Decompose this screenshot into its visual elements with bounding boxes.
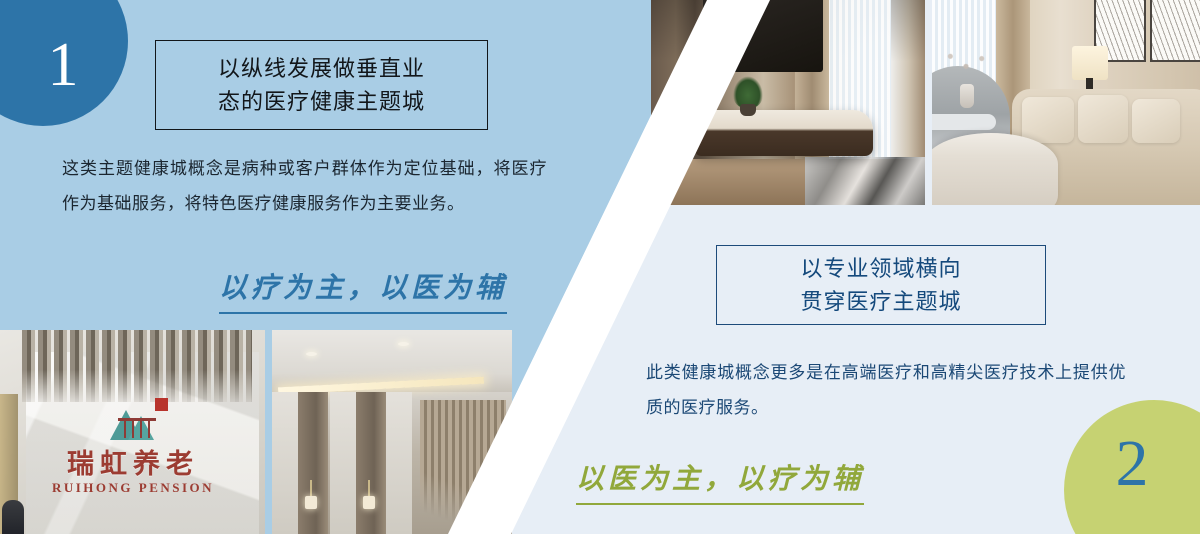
marble-column xyxy=(330,392,356,534)
ceiling-slats xyxy=(22,330,252,402)
wall-panel xyxy=(298,392,328,534)
pendant-lamp xyxy=(362,480,376,510)
wall-art-frame xyxy=(1150,0,1200,62)
panel-1-title-line-1: 以纵线发展做垂直业 xyxy=(218,52,425,85)
cushion xyxy=(1132,99,1180,143)
photo-sofa-living-room xyxy=(932,0,1200,205)
photo-ruihong-pension-logo-wall: 瑞虹养老 RUIHONG PENSION xyxy=(0,330,265,534)
panel-2-body-text: 此类健康城概念更多是在高端医疗和高精尖医疗技术上提供优质的医疗服务。 xyxy=(646,356,1126,426)
logo-text-chinese: 瑞虹养老 xyxy=(38,442,228,481)
panel-2-title-line-1: 以专业领域横向 xyxy=(800,252,961,285)
vertical-wood-fins xyxy=(420,400,506,534)
gate-shape xyxy=(120,418,154,438)
red-seal-icon xyxy=(155,398,168,411)
tv-cabinet xyxy=(695,110,873,156)
step-number-2: 2 xyxy=(1116,431,1149,497)
panel-1-title-line-2: 态的医疗健康主题城 xyxy=(218,85,425,118)
wall-panel xyxy=(356,392,386,534)
pendant-lamp xyxy=(304,480,318,510)
potted-plant xyxy=(725,76,771,120)
lamp-bulb xyxy=(363,496,375,509)
vase-with-branches xyxy=(938,44,994,100)
photo-interior-corridor xyxy=(272,330,512,534)
tv-screen xyxy=(703,0,823,72)
slide-canvas: 瑞虹养老 RUIHONG PENSION 1 以纵线发展做垂直业 态的医疗健康主… xyxy=(0,0,1200,534)
area-rug xyxy=(805,157,925,205)
logo-text-english: RUIHONG PENSION xyxy=(38,480,228,496)
step-number-1: 1 xyxy=(48,34,79,96)
panel-2-title-box: 以专业领域横向 贯穿医疗主题城 xyxy=(716,245,1046,325)
table-lamp xyxy=(1072,46,1108,80)
panel-1-body-text: 这类主题健康城概念是病种或客户群体作为定位基础，将医疗作为基础服务，将特色医疗健… xyxy=(62,152,547,222)
lamp-bulb xyxy=(305,496,317,509)
cushion xyxy=(1078,95,1128,143)
cushion xyxy=(1022,97,1074,143)
photo-tv-wall-living-room xyxy=(651,0,925,205)
marble-column xyxy=(272,392,298,534)
panel-1-slogan: 以疗为主，以医为辅 xyxy=(219,266,507,314)
person-silhouette xyxy=(2,500,24,534)
ceiling-spotlight xyxy=(306,352,317,356)
panel-2-title-line-2: 贯穿医疗主题城 xyxy=(800,285,961,318)
panel-2-slogan: 以医为主，以疗为辅 xyxy=(576,457,864,505)
panel-1-title-box: 以纵线发展做垂直业 态的医疗健康主题城 xyxy=(155,40,488,130)
ceiling-spotlight xyxy=(398,342,409,346)
ruihong-logo-icon xyxy=(110,402,166,442)
round-coffee-table xyxy=(932,133,1058,205)
marble-column xyxy=(386,392,412,534)
